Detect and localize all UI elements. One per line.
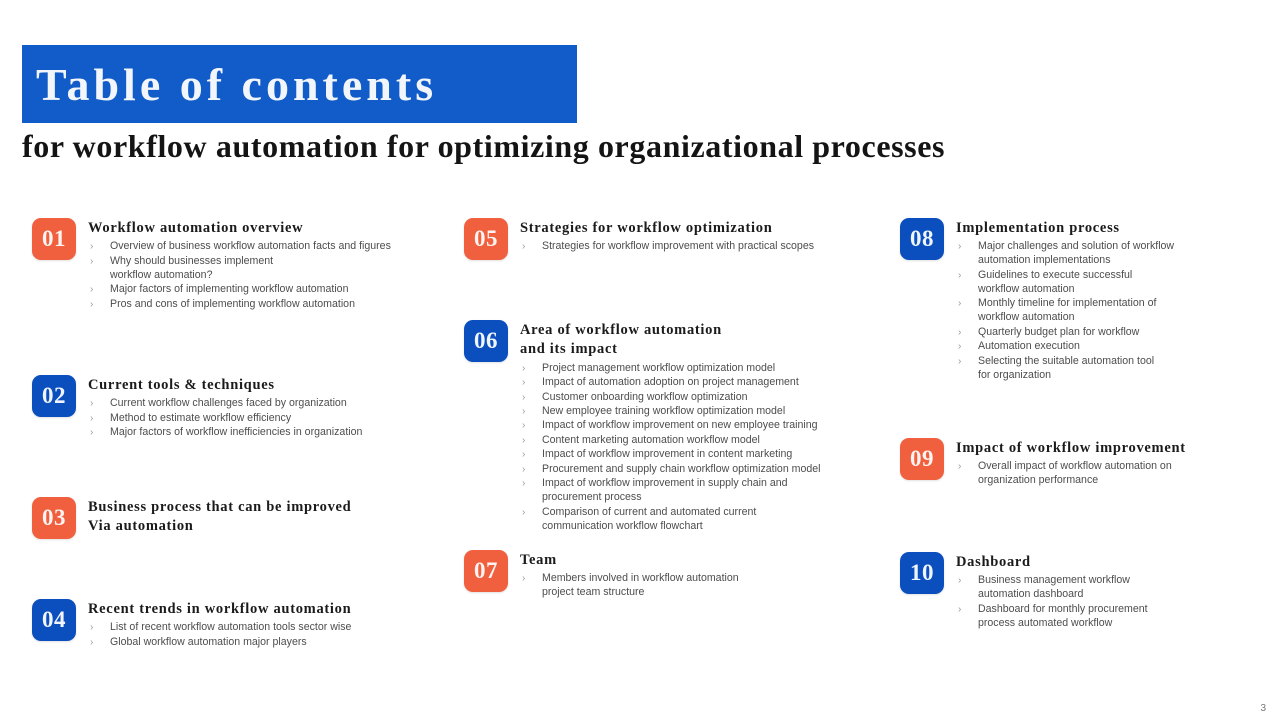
title-banner: Table of contents — [22, 45, 577, 123]
toc-entry-09[interactable]: 09Impact of workflow improvement›Overall… — [900, 438, 1186, 489]
toc-bullet-item[interactable]: ›List of recent workflow automation tool… — [88, 621, 351, 635]
toc-entry-body: Workflow automation overview›Overview of… — [88, 218, 391, 312]
toc-bullet-item[interactable]: ›Procurement and supply chain workflow o… — [520, 463, 821, 477]
chevron-right-icon: › — [522, 419, 525, 432]
toc-bullet-label: Customer onboarding workflow optimizatio… — [542, 391, 748, 403]
toc-entry-bullet-list: ›Members involved in workflow automation… — [520, 572, 739, 600]
chevron-right-icon: › — [522, 391, 525, 404]
toc-bullet-item[interactable]: ›Major challenges and solution of workfl… — [956, 240, 1174, 268]
chevron-right-icon: › — [958, 603, 961, 616]
toc-bullet-item[interactable]: ›Project management workflow optimizatio… — [520, 362, 821, 376]
toc-entry-07[interactable]: 07Team›Members involved in workflow auto… — [464, 550, 739, 601]
toc-entry-body: Business process that can be improved Vi… — [88, 497, 351, 539]
toc-entry-title[interactable]: Strategies for workflow optimization — [520, 219, 814, 238]
toc-entry-body: Team›Members involved in workflow automa… — [520, 550, 739, 601]
toc-bullet-label: List of recent workflow automation tools… — [110, 621, 351, 633]
chevron-right-icon: › — [522, 477, 525, 490]
toc-entry-body: Recent trends in workflow automation›Lis… — [88, 599, 351, 650]
toc-bullet-item[interactable]: ›Method to estimate workflow efficiency — [88, 412, 362, 426]
toc-entry-bullet-list: ›Strategies for workflow improvement wit… — [520, 240, 814, 254]
chevron-right-icon: › — [90, 426, 93, 439]
chevron-right-icon: › — [90, 621, 93, 634]
toc-bullet-label: Method to estimate workflow efficiency — [110, 412, 291, 424]
toc-entry-04[interactable]: 04Recent trends in workflow automation›L… — [32, 599, 351, 650]
toc-bullet-item[interactable]: ›Current workflow challenges faced by or… — [88, 397, 362, 411]
chevron-right-icon: › — [90, 298, 93, 311]
toc-bullet-label: Current workflow challenges faced by org… — [110, 397, 347, 409]
toc-bullet-label: Project management workflow optimization… — [542, 362, 775, 374]
toc-bullet-item[interactable]: ›Impact of workflow improvement in conte… — [520, 448, 821, 462]
toc-entry-title[interactable]: Implementation process — [956, 219, 1174, 238]
toc-entry-05[interactable]: 05Strategies for workflow optimization›S… — [464, 218, 814, 260]
toc-entry-01[interactable]: 01Workflow automation overview›Overview … — [32, 218, 391, 312]
toc-entry-number-badge: 06 — [464, 320, 508, 362]
toc-bullet-item[interactable]: ›Impact of workflow improvement in suppl… — [520, 477, 821, 505]
toc-bullet-item[interactable]: ›Overall impact of workflow automation o… — [956, 460, 1186, 488]
toc-entry-bullet-list: ›List of recent workflow automation tool… — [88, 621, 351, 649]
toc-bullet-item[interactable]: ›Global workflow automation major player… — [88, 636, 351, 650]
toc-bullet-label: Members involved in workflow automation … — [542, 572, 739, 598]
chevron-right-icon: › — [90, 412, 93, 425]
toc-entry-bullet-list: ›Overall impact of workflow automation o… — [956, 460, 1186, 488]
toc-entry-body: Implementation process›Major challenges … — [956, 218, 1174, 383]
chevron-right-icon: › — [90, 255, 93, 268]
toc-bullet-item[interactable]: ›Monthly timeline for implementation of … — [956, 297, 1174, 325]
toc-bullet-item[interactable]: ›Content marketing automation workflow m… — [520, 434, 821, 448]
toc-entry-body: Dashboard›Business management workflow a… — [956, 552, 1148, 631]
toc-bullet-label: Monthly timeline for implementation of w… — [978, 297, 1156, 323]
toc-entry-08[interactable]: 08Implementation process›Major challenge… — [900, 218, 1174, 383]
toc-entry-number-badge: 05 — [464, 218, 508, 260]
toc-entry-title[interactable]: Team — [520, 551, 739, 570]
toc-columns: 01Workflow automation overview›Overview … — [0, 208, 1280, 688]
toc-bullet-label: Impact of workflow improvement in conten… — [542, 448, 792, 460]
chevron-right-icon: › — [958, 240, 961, 253]
chevron-right-icon: › — [522, 572, 525, 585]
toc-bullet-label: Procurement and supply chain workflow op… — [542, 463, 821, 475]
chevron-right-icon: › — [90, 397, 93, 410]
toc-bullet-label: New employee training workflow optimizat… — [542, 405, 785, 417]
chevron-right-icon: › — [522, 463, 525, 476]
toc-entry-body: Area of workflow automation and its impa… — [520, 320, 821, 534]
chevron-right-icon: › — [522, 448, 525, 461]
toc-bullet-label: Impact of workflow improvement on new em… — [542, 419, 818, 431]
toc-entry-number-badge: 02 — [32, 375, 76, 417]
toc-entry-06[interactable]: 06Area of workflow automation and its im… — [464, 320, 821, 534]
toc-bullet-item[interactable]: ›Major factors of workflow inefficiencie… — [88, 426, 362, 440]
toc-entry-body: Strategies for workflow optimization›Str… — [520, 218, 814, 255]
toc-entry-title[interactable]: Impact of workflow improvement — [956, 439, 1186, 458]
toc-bullet-item[interactable]: ›Selecting the suitable automation tool … — [956, 355, 1174, 383]
chevron-right-icon: › — [522, 405, 525, 418]
toc-bullet-label: Quarterly budget plan for workflow — [978, 326, 1139, 338]
chevron-right-icon: › — [958, 297, 961, 310]
toc-bullet-item[interactable]: ›Business management workflow automation… — [956, 574, 1148, 602]
toc-bullet-item[interactable]: ›Automation execution — [956, 340, 1174, 354]
toc-entry-03[interactable]: 03Business process that can be improved … — [32, 497, 351, 539]
toc-bullet-label: Pros and cons of implementing workflow a… — [110, 298, 355, 310]
toc-bullet-label: Automation execution — [978, 340, 1080, 352]
toc-bullet-label: Major factors of implementing workflow a… — [110, 283, 348, 295]
toc-bullet-label: Comparison of current and automated curr… — [542, 506, 756, 532]
toc-bullet-item[interactable]: ›Customer onboarding workflow optimizati… — [520, 391, 821, 405]
toc-entry-02[interactable]: 02Current tools & techniques›Current wor… — [32, 375, 362, 441]
page-title: Table of contents — [36, 58, 437, 111]
toc-entry-bullet-list: ›Overview of business workflow automatio… — [88, 240, 391, 311]
page-number: 3 — [1260, 703, 1266, 714]
toc-bullet-label: Major challenges and solution of workflo… — [978, 240, 1174, 266]
toc-bullet-item[interactable]: ›Comparison of current and automated cur… — [520, 506, 821, 534]
page-subtitle: for workflow automation for optimizing o… — [22, 128, 1262, 165]
toc-bullet-label: Dashboard for monthly procurement proces… — [978, 603, 1148, 629]
toc-bullet-label: Global workflow automation major players — [110, 636, 307, 648]
toc-bullet-item[interactable]: ›Guidelines to execute successful workfl… — [956, 269, 1174, 297]
toc-bullet-label: Strategies for workflow improvement with… — [542, 240, 814, 252]
toc-bullet-label: Major factors of workflow inefficiencies… — [110, 426, 362, 438]
chevron-right-icon: › — [90, 240, 93, 253]
toc-bullet-item[interactable]: ›Why should businesses implement workflo… — [88, 255, 391, 283]
toc-entry-bullet-list: ›Project management workflow optimizatio… — [520, 362, 821, 534]
toc-bullet-item[interactable]: ›Members involved in workflow automation… — [520, 572, 739, 600]
toc-bullet-label: Selecting the suitable automation tool f… — [978, 355, 1154, 381]
toc-entry-number-badge: 08 — [900, 218, 944, 260]
toc-entry-bullet-list: ›Current workflow challenges faced by or… — [88, 397, 362, 440]
chevron-right-icon: › — [522, 240, 525, 253]
toc-bullet-item[interactable]: ›Dashboard for monthly procurement proce… — [956, 603, 1148, 631]
toc-bullet-item[interactable]: ›Major factors of implementing workflow … — [88, 283, 391, 297]
toc-entry-bullet-list: ›Major challenges and solution of workfl… — [956, 240, 1174, 382]
chevron-right-icon: › — [522, 376, 525, 389]
toc-entry-number-badge: 01 — [32, 218, 76, 260]
chevron-right-icon: › — [958, 574, 961, 587]
toc-bullet-label: Overview of business workflow automation… — [110, 240, 391, 252]
slide-root: Table of contents for workflow automatio… — [0, 0, 1280, 720]
toc-entry-bullet-list: ›Business management workflow automation… — [956, 574, 1148, 630]
toc-bullet-item[interactable]: ›New employee training workflow optimiza… — [520, 405, 821, 419]
chevron-right-icon: › — [522, 362, 525, 375]
chevron-right-icon: › — [958, 355, 961, 368]
toc-entry-title[interactable]: Business process that can be improved Vi… — [88, 498, 351, 537]
chevron-right-icon: › — [90, 636, 93, 649]
toc-bullet-item[interactable]: ›Quarterly budget plan for workflow — [956, 326, 1174, 340]
toc-entry-title[interactable]: Dashboard — [956, 553, 1148, 572]
chevron-right-icon: › — [958, 340, 961, 353]
toc-bullet-label: Overall impact of workflow automation on… — [978, 460, 1172, 486]
toc-bullet-label: Content marketing automation workflow mo… — [542, 434, 760, 446]
toc-entry-10[interactable]: 10Dashboard›Business management workflow… — [900, 552, 1148, 631]
chevron-right-icon: › — [958, 269, 961, 282]
toc-bullet-item[interactable]: ›Overview of business workflow automatio… — [88, 240, 391, 254]
toc-bullet-item[interactable]: ›Impact of workflow improvement on new e… — [520, 419, 821, 433]
chevron-right-icon: › — [522, 434, 525, 447]
toc-entry-title[interactable]: Workflow automation overview — [88, 219, 391, 238]
toc-bullet-label: Guidelines to execute successful workflo… — [978, 269, 1132, 295]
toc-bullet-label: Why should businesses implement workflow… — [110, 255, 273, 281]
toc-bullet-label: Impact of workflow improvement in supply… — [542, 477, 788, 503]
toc-entry-number-badge: 03 — [32, 497, 76, 539]
toc-entry-number-badge: 07 — [464, 550, 508, 592]
toc-entry-title[interactable]: Current tools & techniques — [88, 376, 362, 395]
toc-bullet-label: Business management workflow automation … — [978, 574, 1130, 600]
toc-bullet-item[interactable]: ›Pros and cons of implementing workflow … — [88, 298, 391, 312]
toc-bullet-label: Impact of automation adoption on project… — [542, 376, 799, 388]
toc-entry-body: Impact of workflow improvement›Overall i… — [956, 438, 1186, 489]
toc-bullet-item[interactable]: ›Impact of automation adoption on projec… — [520, 376, 821, 390]
toc-entry-number-badge: 04 — [32, 599, 76, 641]
toc-entry-body: Current tools & techniques›Current workf… — [88, 375, 362, 441]
chevron-right-icon: › — [90, 283, 93, 296]
toc-entry-number-badge: 09 — [900, 438, 944, 480]
toc-bullet-item[interactable]: ›Strategies for workflow improvement wit… — [520, 240, 814, 254]
toc-entry-title[interactable]: Area of workflow automation and its impa… — [520, 321, 821, 360]
toc-entry-number-badge: 10 — [900, 552, 944, 594]
chevron-right-icon: › — [958, 326, 961, 339]
toc-entry-title[interactable]: Recent trends in workflow automation — [88, 600, 351, 619]
chevron-right-icon: › — [958, 460, 961, 473]
chevron-right-icon: › — [522, 506, 525, 519]
